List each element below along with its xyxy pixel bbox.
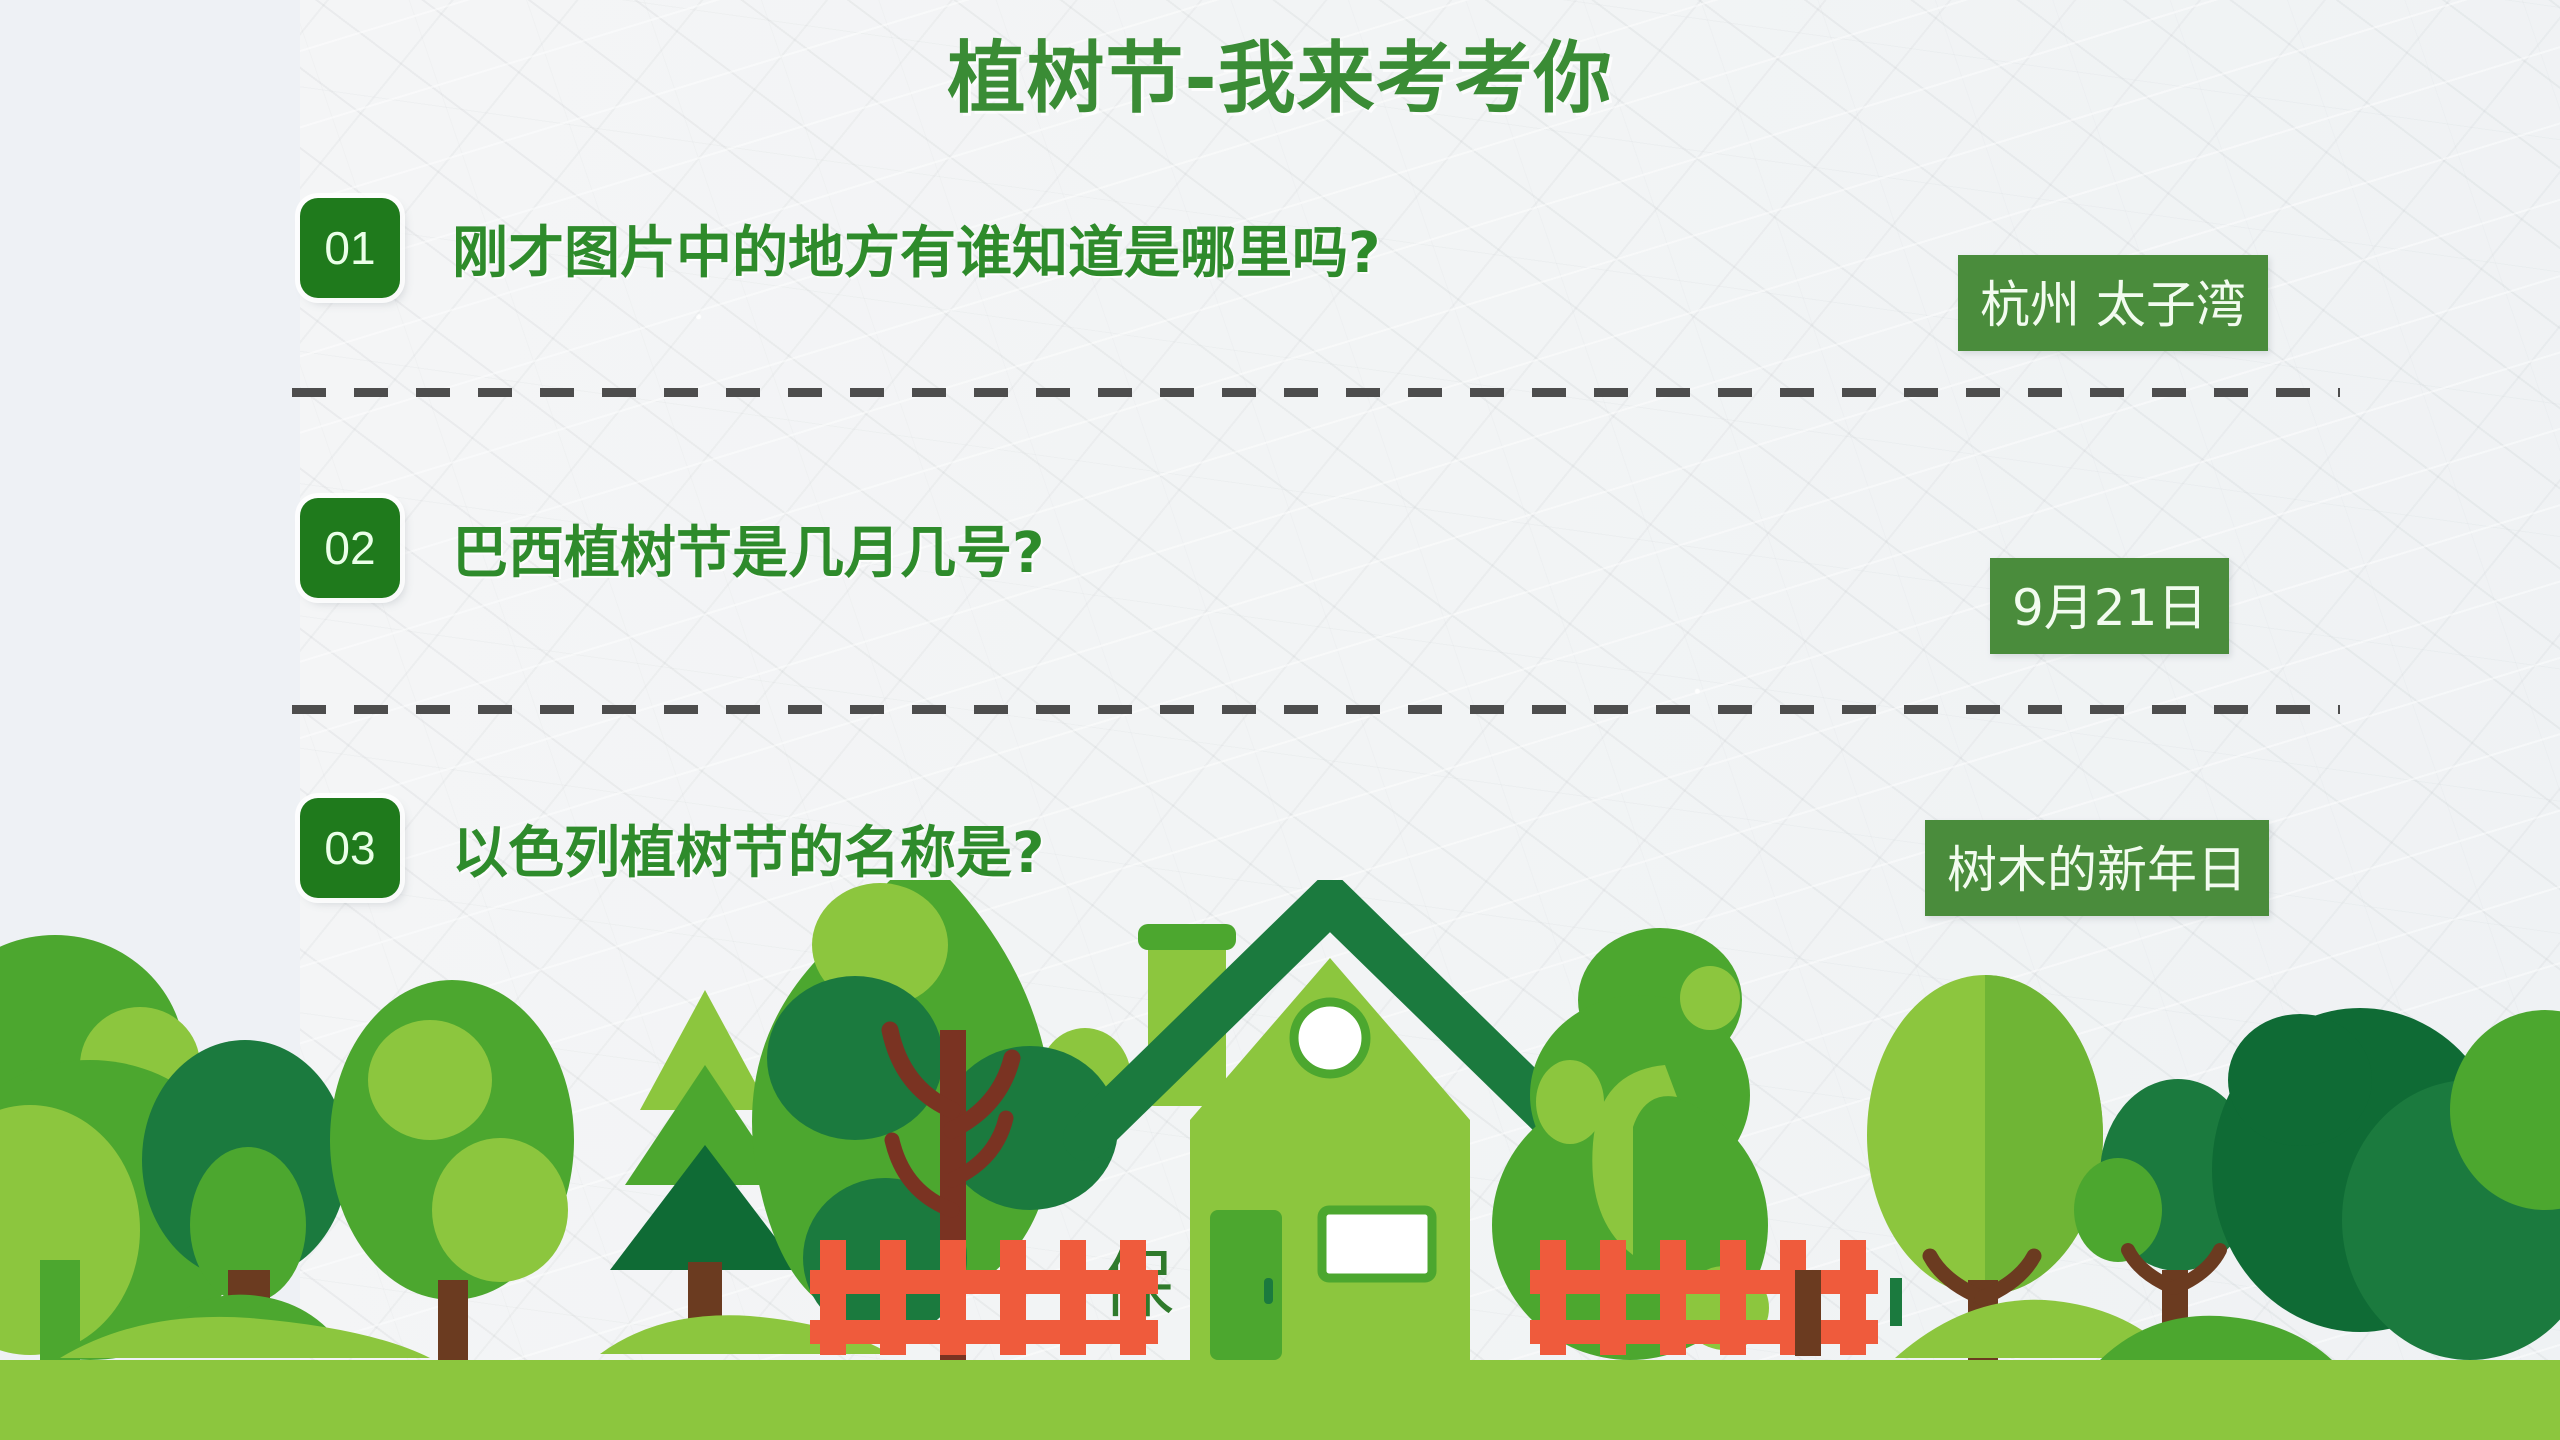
divider-1 bbox=[292, 388, 2340, 397]
house bbox=[1086, 900, 1574, 1360]
scene-svg bbox=[0, 880, 2560, 1440]
ground-strip bbox=[0, 1360, 2560, 1440]
question-text-1: 刚才图片中的地方有谁知道是哪里吗? bbox=[452, 208, 1380, 289]
question-text-2: 巴西植树节是几月几号? bbox=[452, 508, 1044, 589]
question-row-2[interactable]: 02 巴西植树节是几月几号? bbox=[300, 498, 1044, 598]
question-row-3[interactable]: 03 以色列植树节的名称是? bbox=[300, 798, 1044, 898]
question-row-1[interactable]: 01 刚才图片中的地方有谁知道是哪里吗? bbox=[300, 198, 1380, 298]
answer-badge-3[interactable]: 树木的新年日 bbox=[1925, 820, 2269, 916]
illustration-forest-house bbox=[0, 880, 2560, 1440]
bush-small-pair bbox=[2100, 1316, 2332, 1360]
divider-2 bbox=[292, 705, 2340, 714]
question-number-badge-1: 01 bbox=[300, 198, 400, 298]
question-number-badge-3: 03 bbox=[300, 798, 400, 898]
ground-marker bbox=[1890, 1278, 1902, 1326]
question-number-badge-2: 02 bbox=[300, 498, 400, 598]
door-handle bbox=[1264, 1278, 1273, 1304]
tree-tall-oval bbox=[1867, 975, 2103, 1360]
window bbox=[1322, 1210, 1432, 1278]
question-text-3: 以色列植树节的名称是? bbox=[452, 808, 1044, 889]
tree-mid-left-leaf bbox=[330, 980, 574, 1370]
page-title: 植树节-我来考考你 bbox=[0, 16, 2560, 128]
attic-window bbox=[1294, 1002, 1366, 1074]
answer-badge-1[interactable]: 杭州 太子湾 bbox=[1958, 255, 2268, 351]
slide-root: 植树节-我来考考你 保 下 bbox=[0, 0, 2560, 1440]
chimney-cap bbox=[1138, 924, 1236, 950]
tree-far-right bbox=[2212, 1008, 2560, 1360]
answer-badge-2[interactable]: 9月21日 bbox=[1990, 558, 2229, 654]
